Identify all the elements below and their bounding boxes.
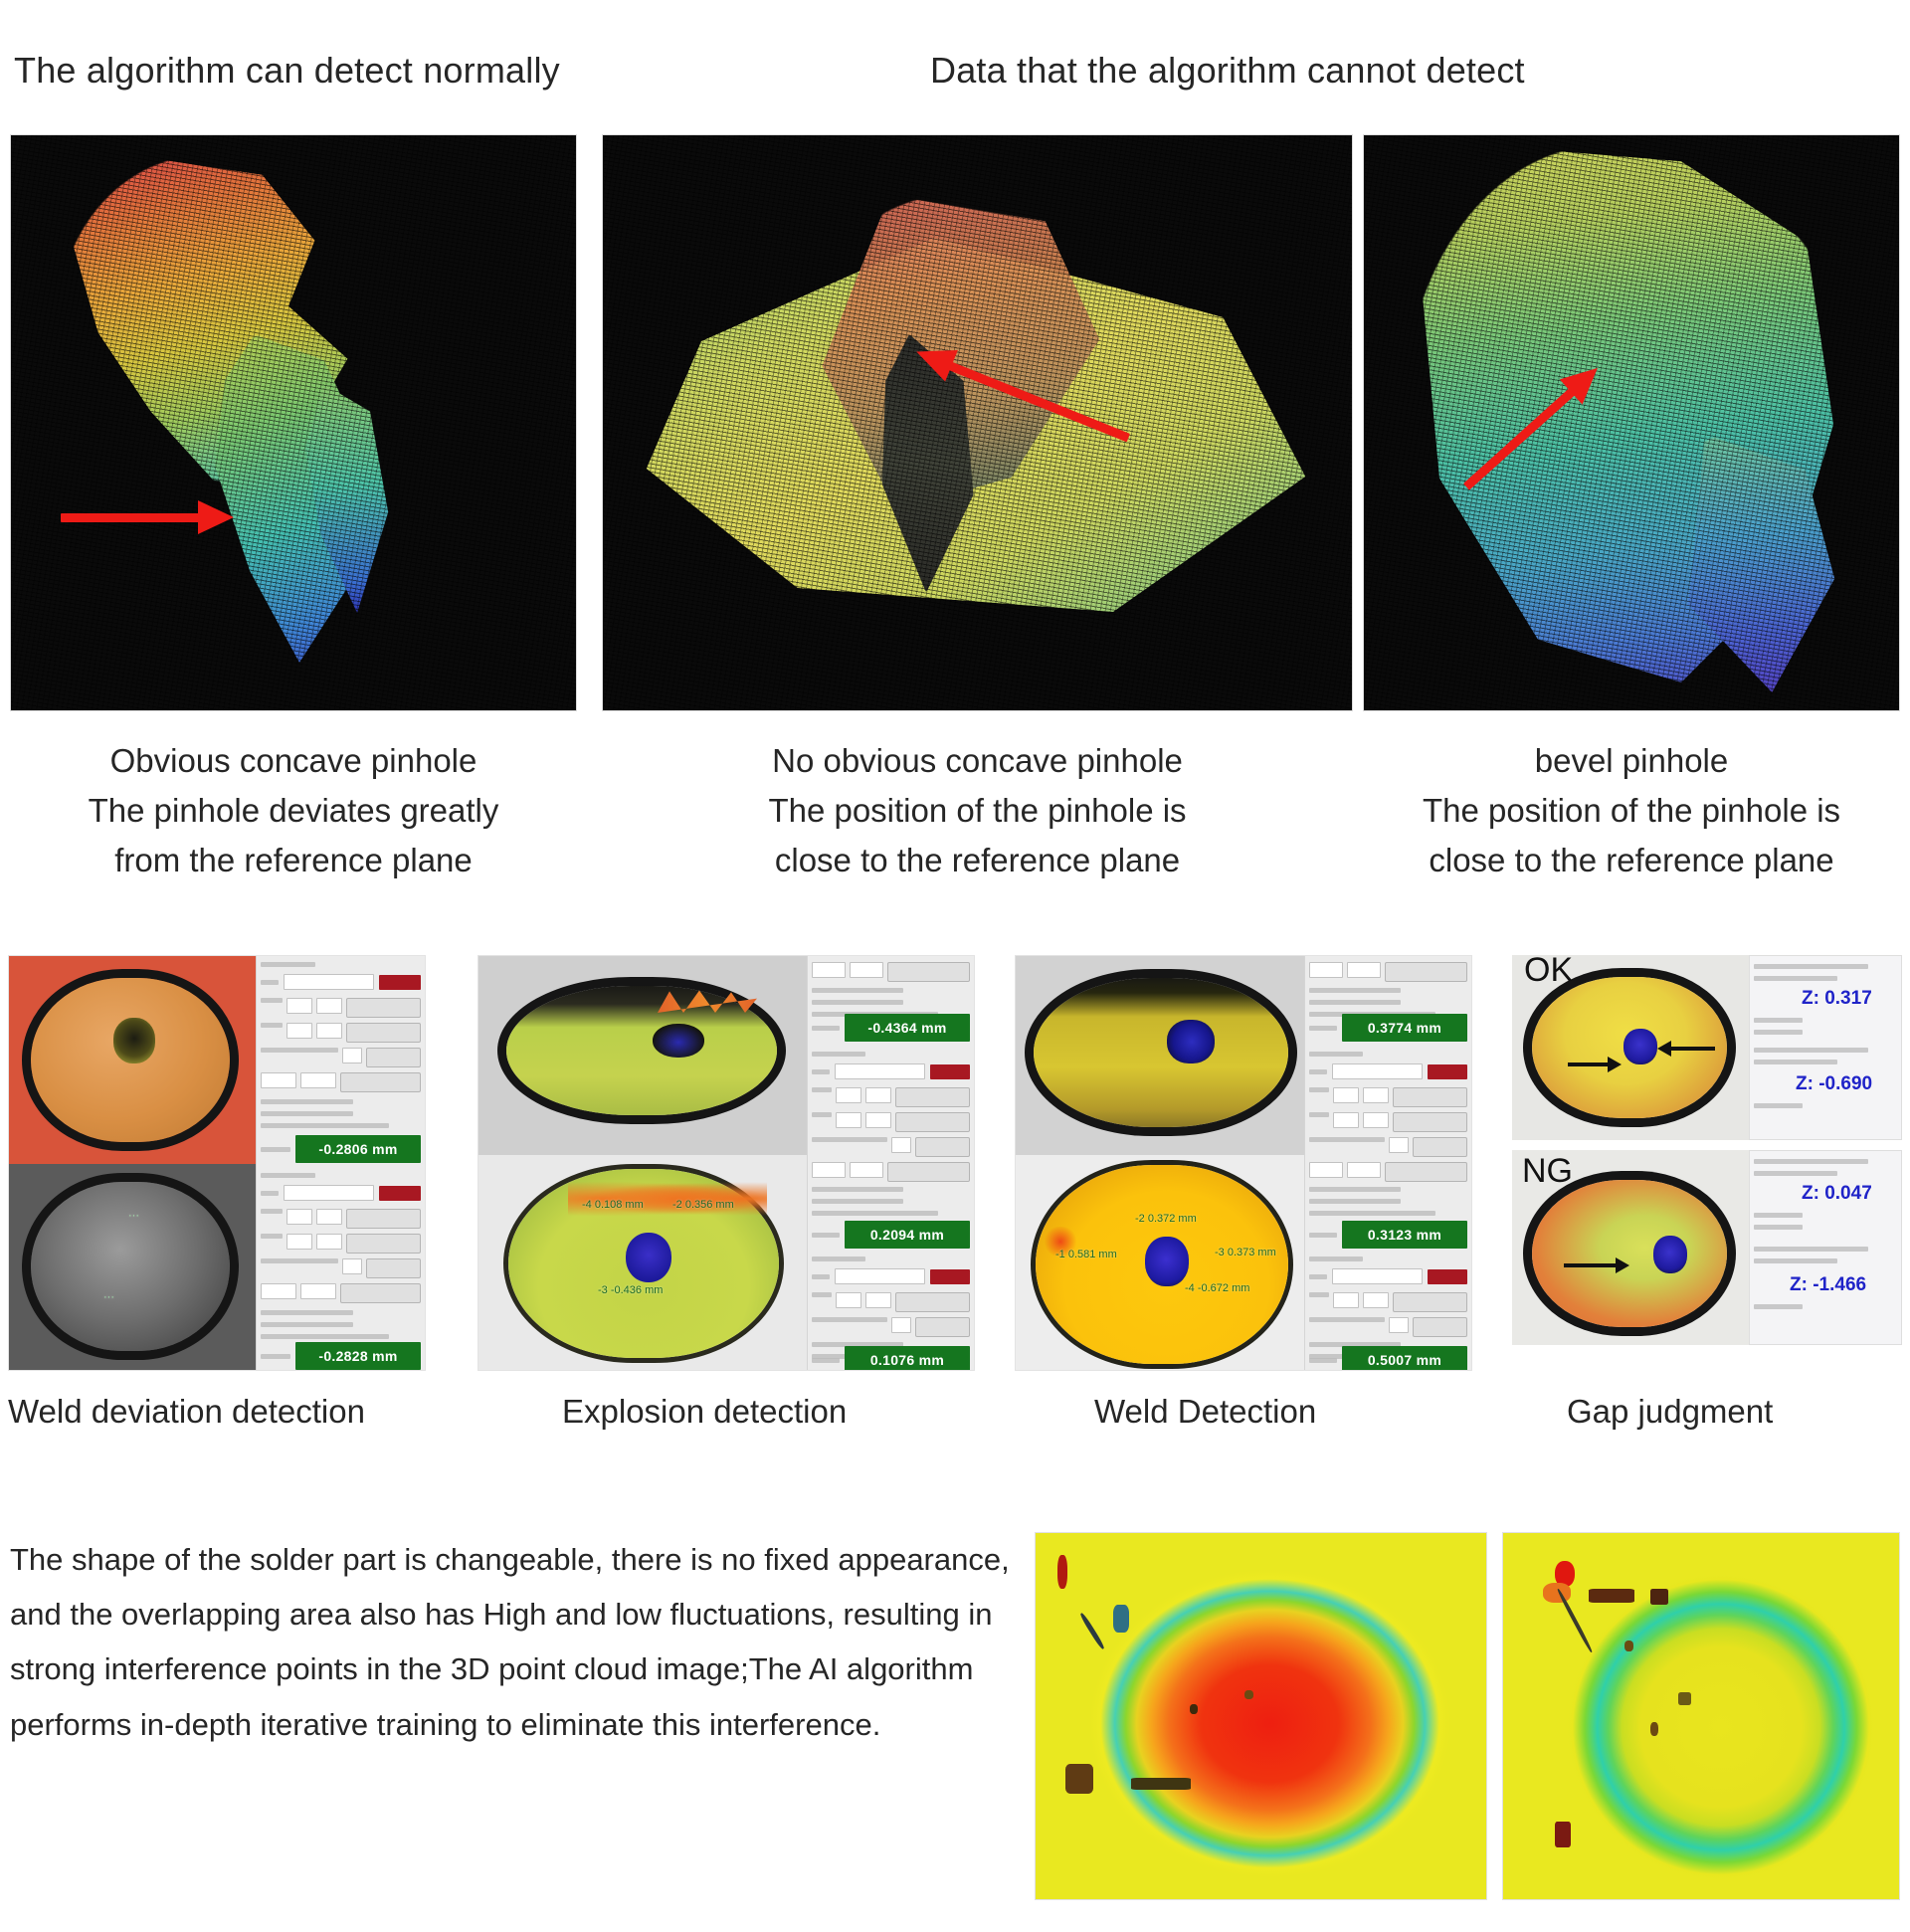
run-button[interactable]	[915, 1317, 970, 1337]
y-input[interactable]	[865, 1292, 891, 1308]
inspection-panel-gap-judgment: OK Z: 0.317 Z: -0.690	[1512, 955, 1902, 1371]
measurement-value: 0.3774 mm	[1342, 1014, 1467, 1042]
overlay-label-value: -0.672 mm	[1198, 1282, 1250, 1294]
pointcloud-image-obvious-pinhole	[10, 134, 577, 711]
header-undetectable: Data that the algorithm cannot detect	[930, 50, 1525, 92]
max-input[interactable]	[1347, 962, 1381, 978]
x2-input[interactable]	[286, 1234, 312, 1250]
name-input[interactable]	[835, 1268, 925, 1284]
y2-input[interactable]	[316, 1234, 342, 1250]
caption-line-2: The position of the pinhole is	[602, 786, 1353, 836]
height-colormap	[1036, 1533, 1486, 1899]
min-input[interactable]	[261, 1283, 296, 1299]
verdict-ok: OK	[1524, 955, 1573, 990]
inspection-panel-weld-detection: -1 0.581 mm -2 0.372 mm -3 0.373 mm -4 -…	[1015, 955, 1472, 1371]
noise-speck	[1589, 1589, 1634, 1603]
max-input[interactable]	[850, 962, 883, 978]
z-value: Z: -0.690	[1796, 1073, 1872, 1095]
teach-button[interactable]	[346, 1209, 421, 1229]
apply-button[interactable]	[887, 1162, 970, 1182]
measurement-value: 0.1076 mm	[845, 1346, 970, 1371]
bottom-pointcloud-hot	[1035, 1532, 1487, 1900]
pointcloud-panel-1	[10, 134, 577, 711]
apply-button[interactable]	[1385, 1162, 1467, 1182]
weld-photo-color	[9, 956, 258, 1164]
y2-input[interactable]	[865, 1112, 891, 1128]
pinhole-spot	[1167, 1020, 1215, 1063]
overlay-label: ···	[128, 1210, 139, 1222]
max-input[interactable]	[300, 1283, 336, 1299]
pct-input[interactable]	[1389, 1137, 1409, 1153]
x-input[interactable]	[286, 1209, 312, 1225]
run-button[interactable]	[366, 1048, 421, 1067]
measurement-sidepanel: -0.2806 mm	[256, 956, 425, 1370]
teach-button[interactable]	[1393, 1087, 1467, 1107]
measurement-value: 0.3123 mm	[1342, 1221, 1467, 1249]
section-headers: The algorithm can detect normally Data t…	[0, 50, 1910, 105]
run-button[interactable]	[915, 1137, 970, 1157]
y-input[interactable]	[1363, 1292, 1389, 1308]
overlay-label: ···	[103, 1291, 114, 1303]
noise-speck	[1190, 1704, 1198, 1714]
name-input[interactable]	[1332, 1268, 1423, 1284]
overlay-label: -2 0.372 mm	[1135, 1213, 1197, 1225]
weld-photo-grayscale: ··· ···	[9, 1164, 258, 1371]
status-badge	[1428, 1269, 1467, 1284]
gap-photo-ok: OK	[1512, 955, 1749, 1140]
measurement-value: 0.5007 mm	[1342, 1346, 1467, 1371]
measurement-sidepanel: -0.4364 mm	[807, 956, 974, 1370]
weld-photo-3d	[1016, 956, 1306, 1155]
pointcloud-panel-2	[602, 134, 1353, 711]
caption-line-1: Obvious concave pinhole	[10, 736, 577, 786]
noise-speck	[1131, 1778, 1191, 1790]
teach-button[interactable]	[895, 1292, 970, 1312]
pointcloud-image-bevel-pinhole	[1363, 134, 1900, 711]
noise-speck	[1624, 1641, 1633, 1651]
status-badge	[930, 1064, 970, 1079]
caption-weld-deviation: Weld deviation detection	[8, 1393, 365, 1431]
status-badge	[379, 1186, 421, 1201]
explosion-photo-heightmap: -4 0.108 mm -2 0.356 mm -3 -0.436 mm	[478, 1155, 807, 1371]
caption-line-1: bevel pinhole	[1363, 736, 1900, 786]
run-button[interactable]	[1413, 1317, 1467, 1337]
caption-line-3: from the reference plane	[10, 836, 577, 885]
pinhole-spot	[113, 1018, 155, 1063]
min-input[interactable]	[1309, 962, 1343, 978]
min-input[interactable]	[812, 1162, 846, 1178]
overlay-label-name: -4	[1185, 1282, 1195, 1294]
apply-button[interactable]	[340, 1072, 421, 1092]
pinhole-spot	[1653, 1236, 1687, 1273]
overlay-label-value: 0.373 mm	[1228, 1247, 1276, 1258]
x2-input[interactable]	[836, 1112, 861, 1128]
y2-input[interactable]	[316, 1023, 342, 1039]
noise-speck	[1543, 1583, 1571, 1603]
run-button[interactable]	[1413, 1137, 1467, 1157]
pinhole-spot	[1623, 1029, 1657, 1064]
caption-panel-3: bevel pinhole The position of the pinhol…	[1363, 736, 1900, 885]
name-input[interactable]	[284, 974, 374, 990]
x-input[interactable]	[286, 998, 312, 1014]
measurement-value: -0.2806 mm	[295, 1135, 421, 1163]
gap-photo-ng: NG	[1512, 1150, 1749, 1345]
overlay-label: -1 0.581 mm	[1055, 1249, 1117, 1260]
overlay-label-value: 0.356 mm	[685, 1199, 734, 1211]
solder-oval	[1532, 1180, 1727, 1327]
noise-speck	[1113, 1605, 1129, 1633]
header-detectable: The algorithm can detect normally	[14, 50, 560, 92]
overlay-label: -2 0.356 mm	[672, 1199, 734, 1211]
apply-button[interactable]	[340, 1283, 421, 1303]
solder-oval	[1034, 978, 1288, 1127]
overlay-label-value: 0.372 mm	[1148, 1213, 1197, 1225]
overlay-label-value: -0.436 mm	[611, 1284, 664, 1296]
run-button[interactable]	[366, 1258, 421, 1278]
overlay-label-name: -2	[1135, 1213, 1145, 1225]
bottom-section: The shape of the solder part is changeab…	[0, 1512, 1910, 1932]
slide-root: The algorithm can detect normally Data t…	[0, 0, 1910, 1932]
caption-line-3: close to the reference plane	[602, 836, 1353, 885]
inspection-panel-explosion: -4 0.108 mm -2 0.356 mm -3 -0.436 mm	[477, 955, 975, 1371]
max-input[interactable]	[1347, 1162, 1381, 1178]
z-value: Z: 0.317	[1802, 988, 1872, 1010]
pointcloud-image-no-obvious-pinhole	[602, 134, 1353, 711]
overlay-label-value: 0.108 mm	[595, 1199, 644, 1211]
min-input[interactable]	[261, 1072, 296, 1088]
verdict-ng: NG	[1522, 1152, 1573, 1191]
name-input[interactable]	[284, 1185, 374, 1201]
explosion-photo-3d	[478, 956, 807, 1155]
max-input[interactable]	[300, 1072, 336, 1088]
set-button[interactable]	[346, 1234, 421, 1254]
pointcloud-panel-3	[1363, 134, 1900, 711]
caption-gap-judgment: Gap judgment	[1567, 1393, 1773, 1431]
summary-paragraph: The shape of the solder part is changeab…	[10, 1532, 1015, 1752]
y-input[interactable]	[316, 998, 342, 1014]
min-input[interactable]	[812, 962, 846, 978]
overlay-label: -4 -0.672 mm	[1185, 1282, 1249, 1294]
teach-button[interactable]	[1393, 1292, 1467, 1312]
overlay-label-name: -4	[582, 1199, 592, 1211]
z-value: Z: 0.047	[1802, 1183, 1872, 1205]
noise-speck	[1065, 1764, 1093, 1794]
y-input[interactable]	[1363, 1087, 1389, 1103]
pointcloud-row	[0, 134, 1910, 711]
max-input[interactable]	[850, 1162, 883, 1178]
x-input[interactable]	[1333, 1087, 1359, 1103]
caption-panel-2: No obvious concave pinhole The position …	[602, 736, 1353, 885]
z-value: Z: -1.466	[1790, 1274, 1866, 1296]
pct-input[interactable]	[891, 1137, 911, 1153]
overlay-label: -3 0.373 mm	[1215, 1247, 1276, 1258]
y-input[interactable]	[865, 1087, 891, 1103]
x2-input[interactable]	[1333, 1112, 1359, 1128]
x-input[interactable]	[1333, 1292, 1359, 1308]
noise-speck	[1650, 1722, 1658, 1736]
status-badge	[1428, 1064, 1467, 1079]
status-badge	[379, 975, 421, 990]
weld-photo-heightmap: -1 0.581 mm -2 0.372 mm -3 0.373 mm -4 -…	[1016, 1155, 1306, 1371]
caption-weld-detection: Weld Detection	[1094, 1393, 1316, 1431]
overlay-label-value: 0.581 mm	[1068, 1249, 1117, 1260]
pinhole-spot	[1145, 1237, 1189, 1286]
measurement-value: 0.2094 mm	[845, 1221, 970, 1249]
x2-input[interactable]	[286, 1023, 312, 1039]
x-input[interactable]	[836, 1087, 861, 1103]
inspection-panel-weld-deviation: ··· ···	[8, 955, 426, 1371]
overlay-label-name: -3	[598, 1284, 608, 1296]
min-input[interactable]	[1309, 1162, 1343, 1178]
teach-button[interactable]	[346, 998, 421, 1018]
gap-readout-ng: Z: 0.047 Z: -1.466	[1749, 1150, 1902, 1345]
overlay-label-name: -2	[672, 1199, 682, 1211]
set-button[interactable]	[346, 1023, 421, 1043]
noise-speck	[1678, 1692, 1691, 1705]
solder-oval	[506, 986, 777, 1115]
caption-panel-1: Obvious concave pinhole The pinhole devi…	[10, 736, 577, 885]
teach-button[interactable]	[895, 1087, 970, 1107]
overlay-label: -4 0.108 mm	[582, 1199, 644, 1211]
measurement-value: -0.2828 mm	[295, 1342, 421, 1370]
x-input[interactable]	[836, 1292, 861, 1308]
pct-input[interactable]	[1389, 1317, 1409, 1333]
pct-input[interactable]	[342, 1258, 362, 1274]
pct-input[interactable]	[891, 1317, 911, 1333]
noise-speck	[1555, 1822, 1571, 1847]
status-badge	[930, 1269, 970, 1284]
pinhole-spot	[626, 1233, 671, 1282]
noise-speck	[1650, 1589, 1668, 1605]
solder-oval	[31, 1182, 230, 1351]
measurement-sidepanel: 0.3774 mm	[1304, 956, 1471, 1370]
pinhole-spot	[653, 1024, 704, 1058]
y-input[interactable]	[316, 1209, 342, 1225]
caption-line-1: No obvious concave pinhole	[602, 736, 1353, 786]
caption-line-2: The position of the pinhole is	[1363, 786, 1900, 836]
gap-readout-ok: Z: 0.317 Z: -0.690	[1749, 955, 1902, 1140]
set-button[interactable]	[1393, 1112, 1467, 1132]
set-button[interactable]	[895, 1112, 970, 1132]
pct-input[interactable]	[342, 1048, 362, 1063]
apply-button[interactable]	[1385, 962, 1467, 982]
noise-speck	[1244, 1690, 1253, 1699]
apply-button[interactable]	[887, 962, 970, 982]
name-input[interactable]	[835, 1063, 925, 1079]
name-input[interactable]	[1332, 1063, 1423, 1079]
y2-input[interactable]	[1363, 1112, 1389, 1128]
caption-explosion: Explosion detection	[562, 1393, 847, 1431]
overlay-label-name: -1	[1055, 1249, 1065, 1260]
caption-line-2: The pinhole deviates greatly	[10, 786, 577, 836]
overlay-label: -3 -0.436 mm	[598, 1284, 663, 1296]
measurement-value: -0.4364 mm	[845, 1014, 970, 1042]
inspection-row: ··· ···	[0, 955, 1910, 1373]
noise-speck	[1057, 1555, 1067, 1589]
caption-line-3: close to the reference plane	[1363, 836, 1900, 885]
bottom-pointcloud-flat	[1502, 1532, 1900, 1900]
overlay-label-name: -3	[1215, 1247, 1225, 1258]
